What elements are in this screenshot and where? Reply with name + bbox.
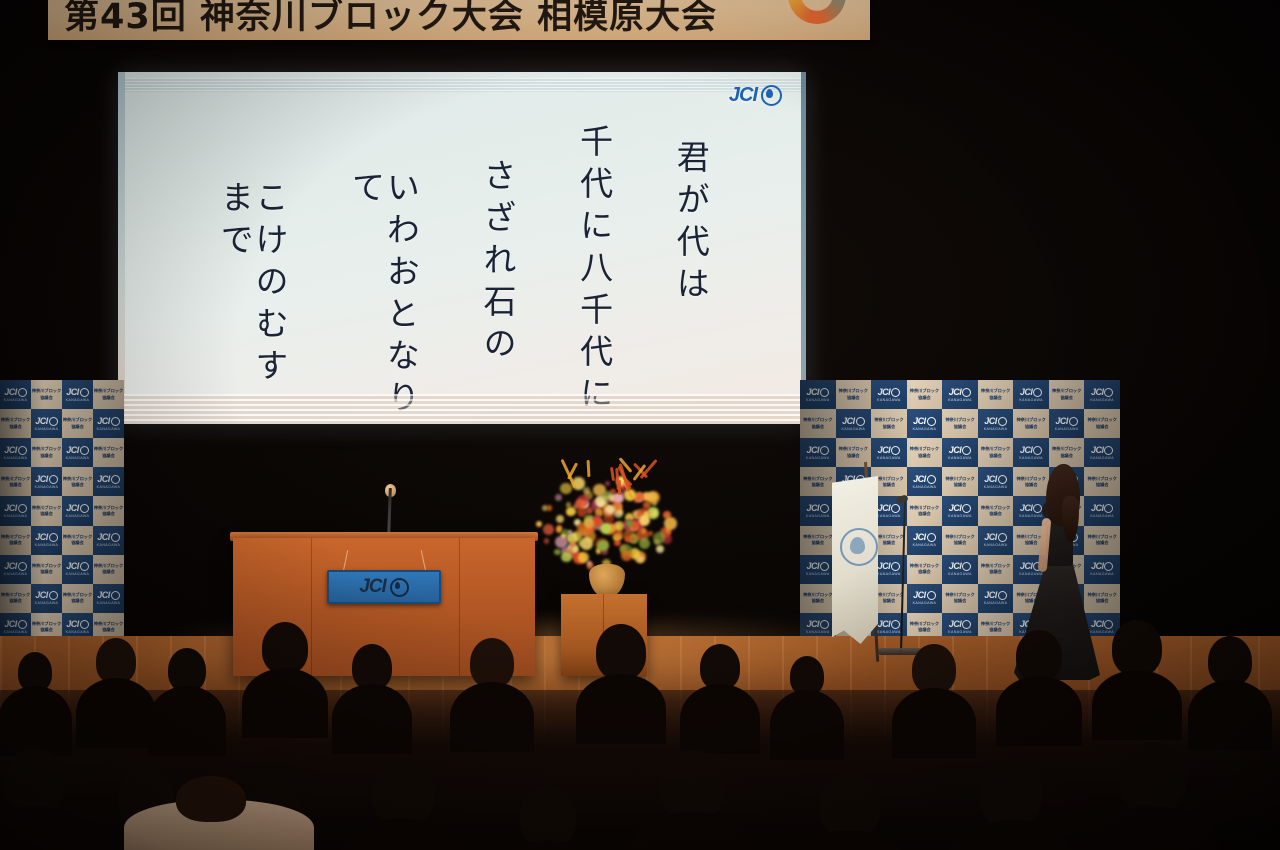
backdrop-panel-japanese-text: 協議会 (918, 453, 931, 459)
anthem-line: いわおとなりて (348, 170, 417, 424)
audience-head (1112, 620, 1162, 676)
backdrop-panel-jci: JCIKANAGAWA (62, 555, 93, 584)
flower-blossom (629, 536, 634, 541)
flower-blossom (554, 549, 561, 556)
backdrop-jci-wordmark: JCI (949, 504, 972, 513)
backdrop-jci-wordmark: JCI (4, 562, 27, 571)
backdrop-jci-subtext: KANAGAWA (877, 456, 901, 460)
jci-shield-icon (1069, 417, 1078, 426)
backdrop-panel-jci: JCIKANAGAWA (907, 409, 943, 438)
backdrop-panel-jci: JCIKANAGAWA (62, 380, 93, 409)
flower-bouquet-icon (531, 452, 679, 574)
backdrop-jci-wordmark: JCI (1091, 388, 1114, 397)
audience-shoulders (242, 668, 328, 738)
backdrop-jci-wordmark: JCI (878, 388, 901, 397)
backdrop-panel-sponsor: 神奈川ブロック協議会 (800, 409, 836, 438)
backdrop-panel-japanese-text: 協議会 (71, 540, 84, 546)
flag-emblem-icon (840, 528, 878, 566)
backdrop-panel-sponsor: 神奈川ブロック協議会 (93, 496, 124, 525)
backdrop-panel-jci: JCIKANAGAWA (800, 438, 836, 467)
backdrop-panel-sponsor: 神奈川ブロック協議会 (93, 555, 124, 584)
backdrop-panel-jci: JCIKANAGAWA (942, 496, 978, 525)
backdrop-panel-jci: JCIKANAGAWA (907, 467, 943, 496)
backdrop-panel-sponsor: 神奈川ブロック協議会 (93, 380, 124, 409)
backdrop-panel-jci: JCIKANAGAWA (871, 438, 907, 467)
backdrop-panel-jci: JCIKANAGAWA (31, 409, 62, 438)
backdrop-jci-wordmark: JCI (4, 504, 27, 513)
event-banner-title: 第43回 神奈川ブロック大会 相模原大会 (64, 0, 717, 39)
backdrop-jci-wordmark: JCI (913, 475, 936, 484)
backdrop-jci-subtext: KANAGAWA (1019, 398, 1043, 402)
audience-head (4, 748, 64, 814)
backdrop-panel-sponsor: 神奈川ブロック協議会 (1049, 380, 1085, 409)
jci-shield-icon (111, 475, 120, 484)
anthem-line: 千代に八千代に (576, 124, 611, 418)
backdrop-panel-japanese-text: 協議会 (918, 511, 931, 517)
backdrop-jci-wordmark: JCI (842, 417, 865, 426)
flower-stem (610, 467, 615, 481)
backdrop-panel-sponsor: 神奈川ブロック協議会 (907, 438, 943, 467)
backdrop-panel-jci: JCIKANAGAWA (93, 467, 124, 496)
flower-blossom (575, 499, 584, 508)
audience-silhouettes (0, 600, 1280, 850)
backdrop-panel-sponsor: 神奈川ブロック協議会 (31, 555, 62, 584)
audience-shoulders (450, 682, 534, 752)
backdrop-panel-japanese-text: 協議会 (102, 395, 115, 401)
audience-head (520, 786, 576, 848)
backdrop-panel-jci: JCIKANAGAWA (0, 380, 31, 409)
jci-shield-icon (998, 475, 1007, 484)
jci-shield-icon (962, 388, 971, 397)
backdrop-panel-sponsor: 神奈川ブロック協議会 (871, 409, 907, 438)
backdrop-panel-jci: JCIKANAGAWA (978, 526, 1014, 555)
jci-shield-icon (49, 591, 58, 600)
backdrop-panel-sponsor: 神奈川ブロック協議会 (31, 380, 62, 409)
backdrop-panel-japanese-text: 協議会 (1096, 424, 1109, 430)
jci-shield-icon (111, 533, 120, 542)
backdrop-panel-sponsor: 神奈川ブロック協議会 (978, 380, 1014, 409)
backdrop-panel-japanese-text: 協議会 (883, 482, 896, 488)
backdrop-panel-japanese-text: 協議会 (9, 424, 22, 430)
audience-shoulders (1092, 670, 1182, 740)
backdrop-jci-wordmark: JCI (807, 504, 830, 513)
backdrop-jci-subtext: KANAGAWA (913, 485, 937, 489)
backdrop-jci-wordmark: JCI (984, 591, 1007, 600)
podium-jci-sign: JCI (327, 570, 441, 604)
jci-shield-icon (18, 388, 27, 397)
flower-blossom (605, 481, 610, 486)
audience-head (596, 624, 646, 680)
backdrop-panel-sponsor: 神奈川ブロック協議会 (907, 380, 943, 409)
backdrop-panel-sponsor: 神奈川ブロック協議会 (31, 496, 62, 525)
backdrop-jci-subtext: KANAGAWA (948, 572, 972, 576)
backdrop-panel-sponsor: 神奈川ブロック協議会 (836, 380, 872, 409)
backdrop-panel-japanese-text: 協議会 (9, 540, 22, 546)
audience-shoulders (892, 688, 976, 758)
backdrop-jci-subtext: KANAGAWA (948, 398, 972, 402)
jci-shield-icon (927, 475, 936, 484)
backdrop-jci-subtext: KANAGAWA (948, 514, 972, 518)
flower-blossom (583, 487, 590, 494)
audience-head (1016, 630, 1062, 682)
backdrop-jci-subtext: KANAGAWA (35, 485, 59, 489)
jci-shield-icon (927, 417, 936, 426)
backdrop-jci-subtext: KANAGAWA (4, 398, 28, 402)
jci-shield-icon (962, 562, 971, 571)
backdrop-jci-wordmark: JCI (913, 591, 936, 600)
backdrop-panel-jci: JCIKANAGAWA (62, 438, 93, 467)
backdrop-jci-wordmark: JCI (66, 388, 89, 397)
backdrop-panel-japanese-text: 協議会 (102, 511, 115, 517)
backdrop-jci-subtext: KANAGAWA (984, 427, 1008, 431)
backdrop-panel-sponsor: 神奈川ブロック協議会 (907, 555, 943, 584)
flower-blossom (578, 552, 589, 563)
jci-shield-icon (891, 562, 900, 571)
backdrop-panel-jci: JCIKANAGAWA (800, 496, 836, 525)
flower-blossom (556, 515, 564, 523)
backdrop-panel-japanese-text: 協議会 (1025, 424, 1038, 430)
backdrop-jci-wordmark: JCI (949, 388, 972, 397)
jci-shield-icon (80, 388, 89, 397)
backdrop-jci-subtext: KANAGAWA (877, 514, 901, 518)
backdrop-jci-wordmark: JCI (1020, 446, 1043, 455)
backdrop-jci-wordmark: JCI (1091, 446, 1114, 455)
jci-shield-icon (80, 504, 89, 513)
backdrop-panel-sponsor: 神奈川ブロック協議会 (942, 467, 978, 496)
backdrop-panel-jci: JCIKANAGAWA (31, 467, 62, 496)
backdrop-jci-wordmark: JCI (97, 417, 120, 426)
backdrop-panel-japanese-text: 協議会 (102, 453, 115, 459)
backdrop-panel-jci: JCIKANAGAWA (836, 409, 872, 438)
backdrop-jci-subtext: KANAGAWA (1090, 398, 1114, 402)
flower-blossom (656, 545, 664, 553)
flower-blossom (584, 518, 594, 528)
backdrop-panel-jci: JCIKANAGAWA (907, 526, 943, 555)
backdrop-panel-jci: JCIKANAGAWA (942, 555, 978, 584)
backdrop-jci-subtext: KANAGAWA (806, 456, 830, 460)
backdrop-panel-sponsor: 神奈川ブロック協議会 (978, 496, 1014, 525)
audience-head (820, 772, 880, 838)
jci-shield-icon (998, 591, 1007, 600)
backdrop-panel-japanese-text: 協議会 (918, 395, 931, 401)
audience-head (1120, 742, 1186, 814)
flower-blossom (613, 530, 623, 540)
backdrop-jci-wordmark: JCI (1020, 388, 1043, 397)
screen-scanline-band (118, 394, 806, 424)
backdrop-panel-sponsor: 神奈川ブロック協議会 (62, 467, 93, 496)
backdrop-jci-wordmark: JCI (949, 562, 972, 571)
jci-shield-icon (998, 533, 1007, 542)
flower-blossom (647, 492, 658, 503)
backdrop-panel-jci: JCIKANAGAWA (871, 380, 907, 409)
backdrop-jci-subtext: KANAGAWA (877, 398, 901, 402)
backdrop-panel-japanese-text: 協議会 (102, 569, 115, 575)
backdrop-panel-japanese-text: 協議会 (71, 424, 84, 430)
backdrop-jci-wordmark: JCI (807, 388, 830, 397)
audience-head (262, 622, 308, 674)
audience-shoulders (996, 676, 1082, 746)
backdrop-jci-wordmark: JCI (35, 533, 58, 542)
backdrop-jci-subtext: KANAGAWA (97, 543, 121, 547)
flower-blossom (637, 556, 643, 562)
jci-shield-icon (1033, 446, 1042, 455)
audience-head (176, 776, 246, 822)
backdrop-panel-japanese-text: 協議会 (989, 511, 1002, 517)
backdrop-jci-wordmark: JCI (4, 446, 27, 455)
backdrop-panel-jci: JCIKANAGAWA (800, 555, 836, 584)
backdrop-panel-japanese-text: 協議会 (954, 424, 967, 430)
flower-blossom (652, 511, 657, 516)
backdrop-panel-jci: JCIKANAGAWA (1084, 380, 1120, 409)
backdrop-panel-sponsor: 神奈川ブロック協議会 (0, 409, 31, 438)
backdrop-jci-wordmark: JCI (66, 504, 89, 513)
backdrop-panel-japanese-text: 協議会 (883, 540, 896, 546)
backdrop-jci-wordmark: JCI (66, 446, 89, 455)
backdrop-jci-subtext: KANAGAWA (66, 572, 90, 576)
backdrop-panel-sponsor: 神奈川ブロック協議会 (800, 526, 836, 555)
backdrop-jci-wordmark: JCI (984, 417, 1007, 426)
backdrop-jci-subtext: KANAGAWA (4, 514, 28, 518)
backdrop-jci-subtext: KANAGAWA (913, 427, 937, 431)
backdrop-jci-wordmark: JCI (66, 562, 89, 571)
backdrop-jci-wordmark: JCI (97, 533, 120, 542)
flower-blossom (586, 507, 593, 514)
backdrop-jci-wordmark: JCI (35, 417, 58, 426)
backdrop-panel-jci: JCIKANAGAWA (62, 496, 93, 525)
backdrop-panel-japanese-text: 協議会 (1060, 395, 1073, 401)
backdrop-panel-japanese-text: 協議会 (954, 540, 967, 546)
backdrop-panel-sponsor: 神奈川ブロック協議会 (0, 467, 31, 496)
backdrop-panel-japanese-text: 協議会 (1060, 453, 1073, 459)
backdrop-jci-wordmark: JCI (97, 591, 120, 600)
backdrop-panel-japanese-text: 協議会 (883, 424, 896, 430)
backdrop-panel-japanese-text: 協議会 (918, 569, 931, 575)
backdrop-panel-japanese-text: 協議会 (989, 395, 1002, 401)
jci-shield-icon (111, 591, 120, 600)
backdrop-panel-sponsor: 神奈川ブロック協議会 (978, 555, 1014, 584)
flower-blossom (560, 483, 572, 495)
circular-rainbow-logo (788, 0, 846, 24)
auditorium-stage-photo: JCI 君が代は 千代に八千代に さざれ石の いわおとなりて こけのむすまで J… (0, 0, 1280, 850)
jci-shield-icon (820, 504, 829, 513)
flower-blossom (639, 515, 650, 526)
jci-shield-icon (80, 562, 89, 571)
anthem-line: こけのむすまで (217, 180, 286, 424)
flower-blossom (566, 507, 575, 516)
backdrop-jci-wordmark: JCI (913, 417, 936, 426)
backdrop-jci-subtext: KANAGAWA (1019, 456, 1043, 460)
backdrop-panel-japanese-text: 協議会 (40, 453, 53, 459)
sign-hanging-wire (343, 550, 349, 572)
backdrop-panel-jci: JCIKANAGAWA (0, 496, 31, 525)
audience-shoulders (680, 684, 760, 754)
backdrop-jci-wordmark: JCI (878, 504, 901, 513)
flower-blossom (536, 521, 542, 527)
backdrop-jci-subtext: KANAGAWA (877, 572, 901, 576)
backdrop-panel-sponsor: 神奈川ブロック協議会 (942, 526, 978, 555)
flower-blossom (555, 494, 562, 501)
flower-blossom (561, 552, 571, 562)
jci-shield-icon (891, 504, 900, 513)
backdrop-panel-jci: JCIKANAGAWA (93, 526, 124, 555)
jci-shield-icon (962, 446, 971, 455)
jci-shield-icon (18, 446, 27, 455)
jci-shield-icon (927, 533, 936, 542)
backdrop-panel-japanese-text: 協議会 (847, 395, 860, 401)
jci-shield-icon (891, 446, 900, 455)
jci-shield-icon (820, 562, 829, 571)
anthem-line: 君が代は (673, 140, 708, 308)
event-banner: 第43回 神奈川ブロック大会 相模原大会 2013 43rd (48, 0, 870, 40)
backdrop-panel-jci: JCIKANAGAWA (1013, 380, 1049, 409)
backdrop-panel-sponsor: 神奈川ブロック協議会 (62, 526, 93, 555)
audience-shoulders (76, 678, 156, 748)
audience-shoulders (332, 684, 412, 754)
jci-shield-icon (18, 504, 27, 513)
jci-shield-icon (1033, 388, 1042, 397)
backdrop-jci-subtext: KANAGAWA (4, 572, 28, 576)
sign-hanging-wire (421, 550, 427, 572)
projection-screen: JCI 君が代は 千代に八千代に さざれ石の いわおとなりて こけのむすまで (118, 72, 806, 424)
flower-blossom (543, 524, 554, 535)
backdrop-panel-jci: JCIKANAGAWA (942, 380, 978, 409)
backdrop-jci-subtext: KANAGAWA (913, 543, 937, 547)
podium-jci-wordmark: JCI (359, 576, 386, 598)
backdrop-jci-subtext: KANAGAWA (984, 485, 1008, 489)
audience-shoulders (1188, 680, 1272, 750)
jci-shield-icon (1104, 446, 1113, 455)
audience-shoulders (770, 690, 844, 760)
audience-head (912, 644, 956, 694)
jci-shield-icon (111, 417, 120, 426)
flower-blossom (648, 531, 653, 536)
backdrop-jci-subtext: KANAGAWA (97, 485, 121, 489)
singer-hair-tail (1062, 496, 1079, 542)
jci-shield-icon (49, 475, 58, 484)
audience-head (1208, 636, 1252, 686)
jci-shield-icon (856, 417, 865, 426)
backdrop-jci-subtext: KANAGAWA (35, 427, 59, 431)
audience-shoulders (0, 686, 72, 756)
backdrop-jci-wordmark: JCI (984, 533, 1007, 542)
backdrop-panel-jci: JCIKANAGAWA (1049, 409, 1085, 438)
backdrop-jci-subtext: KANAGAWA (66, 456, 90, 460)
backdrop-jci-wordmark: JCI (913, 533, 936, 542)
jci-shield-icon (18, 562, 27, 571)
jci-shield-icon (820, 388, 829, 397)
backdrop-panel-japanese-text: 協議会 (954, 482, 967, 488)
backdrop-jci-subtext: KANAGAWA (806, 514, 830, 518)
flower-blossom (614, 493, 623, 502)
jci-shield-icon (998, 417, 1007, 426)
audience-head (980, 760, 1042, 828)
backdrop-jci-wordmark: JCI (949, 446, 972, 455)
backdrop-panel-jci: JCIKANAGAWA (93, 409, 124, 438)
backdrop-jci-wordmark: JCI (807, 562, 830, 571)
backdrop-jci-wordmark: JCI (4, 388, 27, 397)
backdrop-jci-subtext: KANAGAWA (806, 572, 830, 576)
jci-shield-icon (927, 591, 936, 600)
jci-shield-icon (820, 446, 829, 455)
backdrop-panel-japanese-text: 協議会 (989, 453, 1002, 459)
backdrop-panel-japanese-text: 協議会 (71, 482, 84, 488)
backdrop-jci-subtext: KANAGAWA (1090, 456, 1114, 460)
backdrop-jci-subtext: KANAGAWA (806, 398, 830, 402)
backdrop-jci-subtext: KANAGAWA (66, 514, 90, 518)
backdrop-jci-wordmark: JCI (878, 562, 901, 571)
backdrop-jci-subtext: KANAGAWA (841, 427, 865, 431)
flower-blossom (605, 505, 615, 515)
backdrop-panel-japanese-text: 協議会 (40, 569, 53, 575)
backdrop-panel-japanese-text: 協議会 (847, 453, 860, 459)
audience-shoulders (576, 674, 666, 744)
backdrop-panel-jci: JCIKANAGAWA (0, 438, 31, 467)
backdrop-jci-wordmark: JCI (35, 475, 58, 484)
jci-shield-icon (1104, 388, 1113, 397)
flower-blossom (580, 537, 593, 550)
backdrop-jci-wordmark: JCI (1055, 417, 1078, 426)
backdrop-panel-jci: JCIKANAGAWA (31, 526, 62, 555)
flower-blossom (568, 535, 577, 544)
backdrop-jci-subtext: KANAGAWA (66, 398, 90, 402)
backdrop-panel-japanese-text: 協議会 (811, 482, 824, 488)
backdrop-panel-japanese-text: 協議会 (40, 511, 53, 517)
backdrop-panel-sponsor: 神奈川ブロック協議会 (1013, 409, 1049, 438)
flower-blossom (544, 538, 550, 544)
backdrop-jci-subtext: KANAGAWA (35, 543, 59, 547)
backdrop-jci-subtext: KANAGAWA (4, 456, 28, 460)
backdrop-panel-japanese-text: 協議会 (811, 424, 824, 430)
audience-shoulders (148, 686, 226, 756)
backdrop-panel-jci: JCIKANAGAWA (978, 467, 1014, 496)
flower-blossom (555, 536, 567, 548)
backdrop-panel-sponsor: 神奈川ブロック協議会 (31, 438, 62, 467)
audience-head (470, 638, 514, 688)
jci-shield-icon (891, 388, 900, 397)
jci-shield-icon (49, 417, 58, 426)
backdrop-panel-jci: JCIKANAGAWA (800, 380, 836, 409)
backdrop-panel-sponsor: 神奈川ブロック協議会 (62, 409, 93, 438)
backdrop-panel-japanese-text: 協議会 (9, 482, 22, 488)
flower-blossom (639, 538, 650, 549)
jci-shield-icon (80, 446, 89, 455)
audience-head (660, 750, 724, 820)
backdrop-panel-jci: JCIKANAGAWA (0, 555, 31, 584)
backdrop-jci-subtext: KANAGAWA (948, 456, 972, 460)
jci-shield-icon (49, 533, 58, 542)
backdrop-panel-japanese-text: 協議会 (40, 395, 53, 401)
backdrop-panel-sponsor: 神奈川ブロック協議会 (978, 438, 1014, 467)
backdrop-panel-sponsor: 神奈川ブロック協議会 (942, 409, 978, 438)
flower-blossom (625, 536, 630, 541)
jci-shield-icon (390, 578, 409, 597)
backdrop-jci-subtext: KANAGAWA (984, 543, 1008, 547)
backdrop-jci-wordmark: JCI (984, 475, 1007, 484)
backdrop-panel-sponsor: 神奈川ブロック協議会 (1084, 409, 1120, 438)
backdrop-jci-subtext: KANAGAWA (97, 427, 121, 431)
flower-blossom (621, 550, 632, 561)
backdrop-panel-japanese-text: 協議会 (989, 569, 1002, 575)
backdrop-panel-sponsor: 神奈川ブロック協議会 (907, 496, 943, 525)
backdrop-panel-sponsor: 神奈川ブロック協議会 (800, 467, 836, 496)
backdrop-jci-subtext: KANAGAWA (1055, 427, 1079, 431)
backdrop-panel-sponsor: 神奈川ブロック協議会 (0, 526, 31, 555)
jci-shield-icon (962, 504, 971, 513)
backdrop-panel-jci: JCIKANAGAWA (942, 438, 978, 467)
backdrop-jci-wordmark: JCI (878, 446, 901, 455)
flower-blossom (664, 517, 677, 530)
backdrop-panel-sponsor: 神奈川ブロック協議会 (93, 438, 124, 467)
